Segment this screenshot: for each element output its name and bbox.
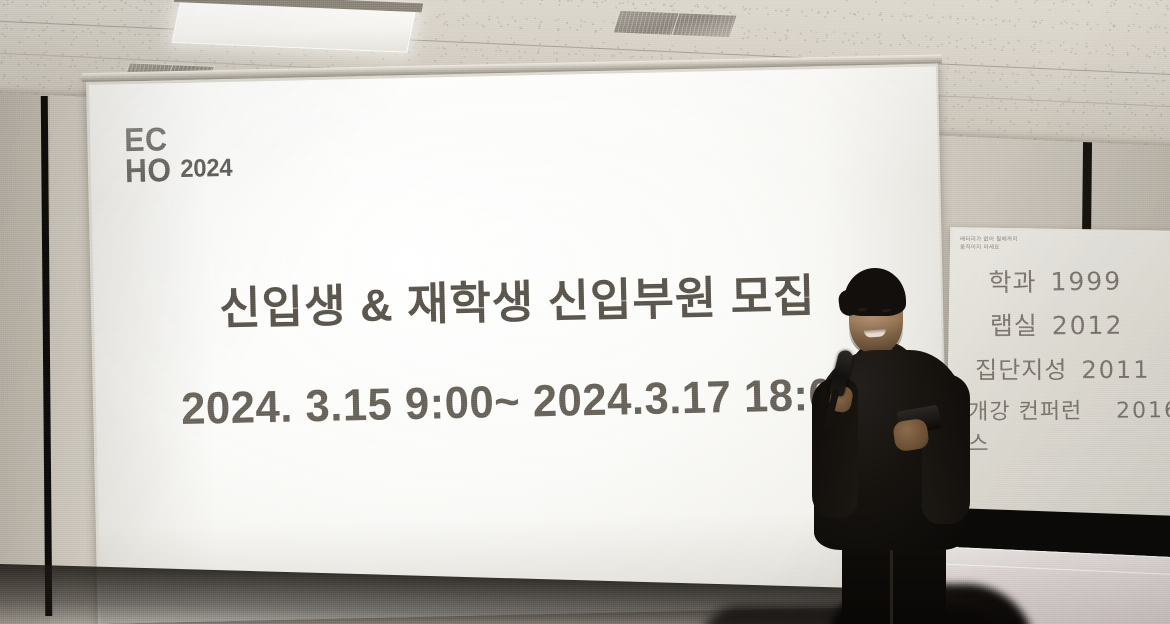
whiteboard-row-year: 1999 (1050, 267, 1122, 297)
whiteboard-row-label: 집단지성 (975, 350, 1067, 385)
echo-logo: EC HO 2024 (124, 122, 234, 186)
whiteboard-note-list: 학과 1999 랩실 2012 집단지성 2011 개강 컨퍼런스 2016 (966, 260, 1170, 466)
whiteboard: 배터리가 없어 될때까지 움직이지 마세요 학과 1999 랩실 2012 집단… (946, 227, 1170, 522)
whiteboard-row: 개강 컨퍼런스 2016 (968, 392, 1170, 458)
echo-logo-stack: EC HO (124, 123, 172, 186)
whiteboard-corner-note: 배터리가 없어 될때까지 움직이지 마세요 (960, 236, 1018, 253)
whiteboard-row: 집단지성 2011 (975, 350, 1170, 386)
ceiling-vent-right-icon (612, 10, 738, 39)
whiteboard-row: 학과 1999 (988, 261, 1170, 300)
whiteboard-row-label: 개강 컨퍼런스 (968, 393, 1103, 458)
presenter-hair (844, 268, 906, 316)
presenter-eye-right (882, 309, 891, 313)
echo-logo-line2: HO (125, 154, 172, 186)
whiteboard-row: 랩실 2012 (990, 305, 1170, 342)
presenter-arm-right (922, 374, 970, 524)
echo-logo-year: 2024 (179, 154, 232, 185)
whiteboard-row-year: 2012 (1052, 311, 1124, 340)
whiteboard-row-label: 학과 (988, 263, 1036, 300)
whiteboard-row-year: 2016 (1116, 398, 1170, 424)
whiteboard-row-label: 랩실 (990, 306, 1038, 342)
whiteboard-surface: 배터리가 없어 될때까지 움직이지 마세요 학과 1999 랩실 2012 집단… (949, 230, 1170, 519)
whiteboard-row-year: 2011 (1081, 356, 1150, 384)
presentation-photo-scene: EC HO 2024 신입생 & 재학생 신입부원 모집 2024. 3.15 … (0, 0, 1170, 624)
